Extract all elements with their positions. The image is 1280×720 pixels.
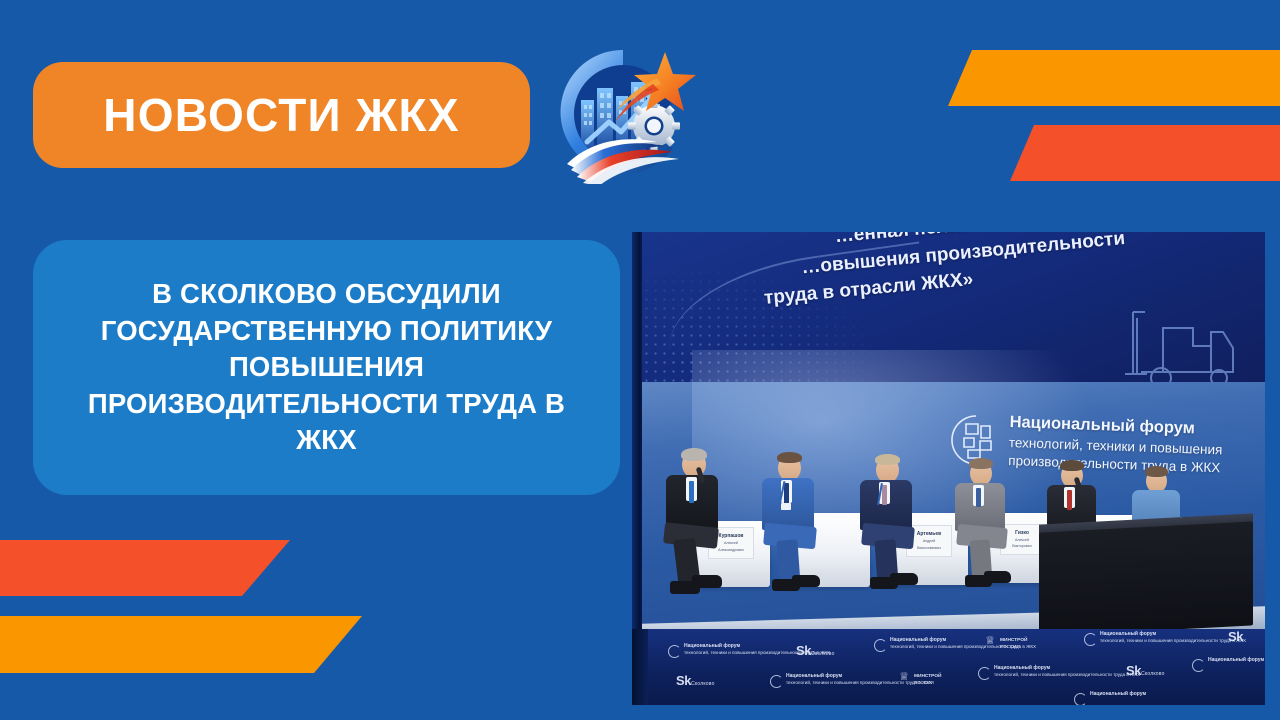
panelist [750, 445, 842, 593]
podium [1039, 521, 1253, 636]
news-card-slide: НОВОСТИ ЖКХ [0, 0, 1280, 720]
sponsor-forum-title: Национальный форум [1208, 657, 1264, 664]
sponsor-logo-forum: Национальный форум технологий, техники и… [994, 665, 1140, 677]
sponsor-forum-subtitle: технологий, техники и повышения производ… [1100, 638, 1246, 643]
forum-logo-mark-icon [874, 639, 887, 652]
sponsor-wall: Национальный форум технологий, техники и… [632, 629, 1265, 705]
sponsor-sk-title: Sk [676, 673, 691, 688]
minstroy-eagle-icon: ♕ [984, 635, 996, 647]
headline-card: В СКОЛКОВО ОБСУДИЛИ ГОСУДАРСТВЕННУЮ ПОЛИ… [33, 240, 620, 495]
decor-band-top-right-orange [948, 50, 1280, 106]
decor-band-bottom-left-orange [0, 616, 362, 673]
sponsor-forum-title: Национальный форум [1090, 691, 1146, 698]
news-badge-label: НОВОСТИ ЖКХ [103, 88, 459, 142]
sponsor-minstroy-subtitle: РОССИИ [1000, 644, 1020, 649]
sponsor-minstroy-subtitle: РОССИИ [914, 680, 934, 685]
sponsor-logo-forum: Национальный форум [1090, 691, 1146, 698]
sponsor-logo-skolkovo: SkСколково [796, 643, 835, 658]
sponsor-sk-title: Sk [796, 643, 811, 658]
sponsor-logo-skolkovo: Sk [1228, 629, 1243, 644]
decor-band-bottom-left-red [0, 540, 290, 596]
forum-logo-mark-icon [1074, 693, 1087, 705]
news-photo: …енная политика …овышения производительн… [632, 232, 1265, 705]
minstroy-eagle-icon: ♕ [898, 671, 910, 683]
sponsor-sk-title: Sk [1228, 629, 1243, 644]
zhkh-forum-emblem-icon [553, 38, 699, 184]
sponsor-logo-forum: Национальный форум [1208, 657, 1264, 664]
sponsor-forum-subtitle: технологий, техники и повышения производ… [994, 672, 1140, 677]
forum-logo-mark-icon [770, 675, 783, 688]
panelist [944, 447, 1032, 589]
decor-band-top-right-red [1010, 125, 1280, 181]
news-badge: НОВОСТИ ЖКХ [33, 62, 530, 168]
panelist [648, 445, 744, 595]
sponsor-forum-subtitle: технологий, техники и повышения производ… [786, 680, 932, 685]
panelist [848, 445, 940, 591]
forum-logo-mark-icon [668, 645, 681, 658]
sponsor-logo-forum: Национальный форум технологий, техники и… [786, 673, 932, 685]
headline-text: В СКОЛКОВО ОБСУДИЛИ ГОСУДАРСТВЕННУЮ ПОЛИ… [79, 276, 574, 459]
forum-logo-mark-icon [1192, 659, 1205, 672]
sponsor-logo-minstroy: МИНСТРОЙ РОССИИ [1000, 638, 1028, 650]
forum-logo-mark-icon [978, 667, 991, 680]
sponsor-logo-forum: Национальный форум технологий, техники и… [1100, 631, 1246, 643]
sponsor-sk-subtitle: Сколково [811, 651, 834, 657]
sponsor-sk-subtitle: Сколково [1141, 671, 1164, 677]
sponsor-sk-title: Sk [1126, 663, 1141, 678]
sponsor-logo-skolkovo: SkСколково [676, 673, 715, 688]
sponsor-wall-edge [632, 629, 648, 705]
sponsor-sk-subtitle: Сколково [691, 681, 714, 687]
forum-logo-mark-icon [1084, 633, 1097, 646]
sponsor-logo-minstroy: МИНСТРОЙ РОССИИ [914, 674, 942, 686]
forklift-line-art-icon [1115, 286, 1255, 394]
sponsor-logo-skolkovo: SkСколково [1126, 663, 1165, 678]
